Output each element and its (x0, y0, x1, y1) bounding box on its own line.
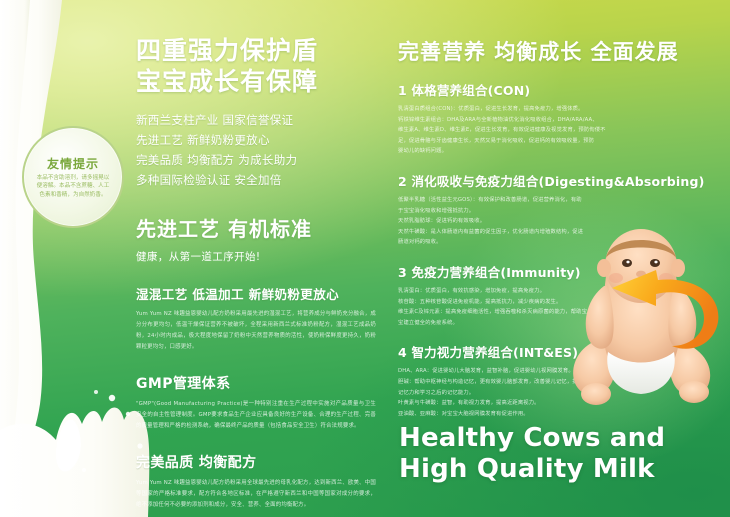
block-body-wet-mixing: Yum Yum NZ 味趣益恩婴幼儿配方奶粉采用最先进的湿混工艺，将营养成分与鲜… (136, 309, 376, 353)
milk-splash-icon (0, 0, 150, 517)
nutrition-headline: 完善营养 均衡成长 全面发展 (398, 36, 716, 66)
section-body-line: 婴幼儿的缺钙问题。 (398, 146, 716, 157)
block-title-gmp: GMP管理体系 (136, 373, 376, 393)
bottom-headline-line2: High Quality Milk (399, 454, 699, 485)
lead-line: 先进工艺 新鲜奶粉更放心 (136, 130, 376, 150)
section-body-line: 足，促进骨骼与牙齿健康生长，天然又易于消化吸收，促进钙的有效吸收量，预防 (398, 136, 716, 147)
block-title-quality: 完美品质 均衡配方 (136, 452, 376, 472)
process-section-title: 先进工艺 有机标准 (136, 213, 376, 242)
bottom-headline: Healthy Cows and High Quality Milk (399, 423, 699, 485)
section-title-con: 1 体格营养组合(CON) (398, 80, 716, 99)
main-headline-line2: 宝宝成长有保障 (136, 67, 376, 98)
nutrition-section-con: 1 体格营养组合(CON) 乳清蛋白质组合(CON)：优质蛋白，促进生长发育，提… (398, 80, 716, 157)
baby-photo-icon (546, 228, 730, 418)
section-body-line: 低聚半乳糖（活性益生元GOS）：有效保护和改善肠道，促进营养消化，有助 (398, 195, 716, 206)
lead-line: 新西兰支柱产业 国家信誉保证 (136, 110, 376, 130)
friendly-tip-badge: 友情提示 本品不含助溶剂，请多摇晃以便溶解。本品不含蔗糖、人工色素和香精，为自然… (22, 126, 124, 228)
lead-bullet-list: 新西兰支柱产业 国家信誉保证 先进工艺 新鲜奶粉更放心 完美品质 均衡配方 为成… (136, 110, 376, 191)
left-content-column: 四重强力保护盾 宝宝成长有保障 新西兰支柱产业 国家信誉保证 先进工艺 新鲜奶粉… (136, 36, 376, 517)
block-title-wet-mixing: 湿混工艺 低温加工 新鲜奶粉更放心 (136, 284, 376, 303)
lead-line: 完美品质 均衡配方 为成长助力 (136, 150, 376, 170)
block-body-quality-1: Yum Yum NZ 味趣益恩婴幼儿配方奶粉采用全球最先进的母乳化配方，达到新西… (136, 478, 376, 511)
section-body-con: 乳清蛋白质组合(CON)：优质蛋白，促进生长发育，提高免疫力，增强体质。 钙铁锌… (398, 104, 716, 157)
poster-canvas: 友情提示 本品不含助溶剂，请多摇晃以便溶解。本品不含蔗糖、人工色素和香精，为自然… (0, 0, 730, 517)
section-title-digesting: 2 消化吸收与免疫力组合(Digesting&Absorbing) (398, 171, 716, 190)
tip-badge-title: 友情提示 (47, 155, 99, 172)
section-body-line: 维生素A、维生素D、维生素E，促进生长发育，有效促进健康及视觉发育，预防佝偻不 (398, 125, 716, 136)
section-body-line: 天然乳脂肪球：促进钙的有效吸收。 (398, 216, 716, 227)
section-body-line: 乳清蛋白质组合(CON)：优质蛋白，促进生长发育，提高免疫力，增强体质。 (398, 104, 716, 115)
lead-line: 多种国际检验认证 安全加倍 (136, 170, 376, 190)
tip-badge-body: 本品不含助溶剂，请多摇晃以便溶解。本品不含蔗糖、人工色素和香精，为自然奶香。 (36, 174, 110, 200)
section-body-line: 钙铁锌维生素组合：DHA及ARA与全新植物油优化消化吸收组合，DHA/ARA/A… (398, 115, 716, 126)
bottom-headline-line1: Healthy Cows and (399, 423, 699, 454)
main-headline: 四重强力保护盾 宝宝成长有保障 (136, 36, 376, 97)
process-section-subtitle: 健康，从第一道工序开始! (136, 249, 376, 264)
section-body-line: 于宝宝消化吸收和增强抵抗力。 (398, 206, 716, 217)
block-body-gmp: "GMP"(Good Manufacturing Practice)是一种特别注… (136, 399, 376, 432)
main-headline-line1: 四重强力保护盾 (136, 36, 376, 67)
